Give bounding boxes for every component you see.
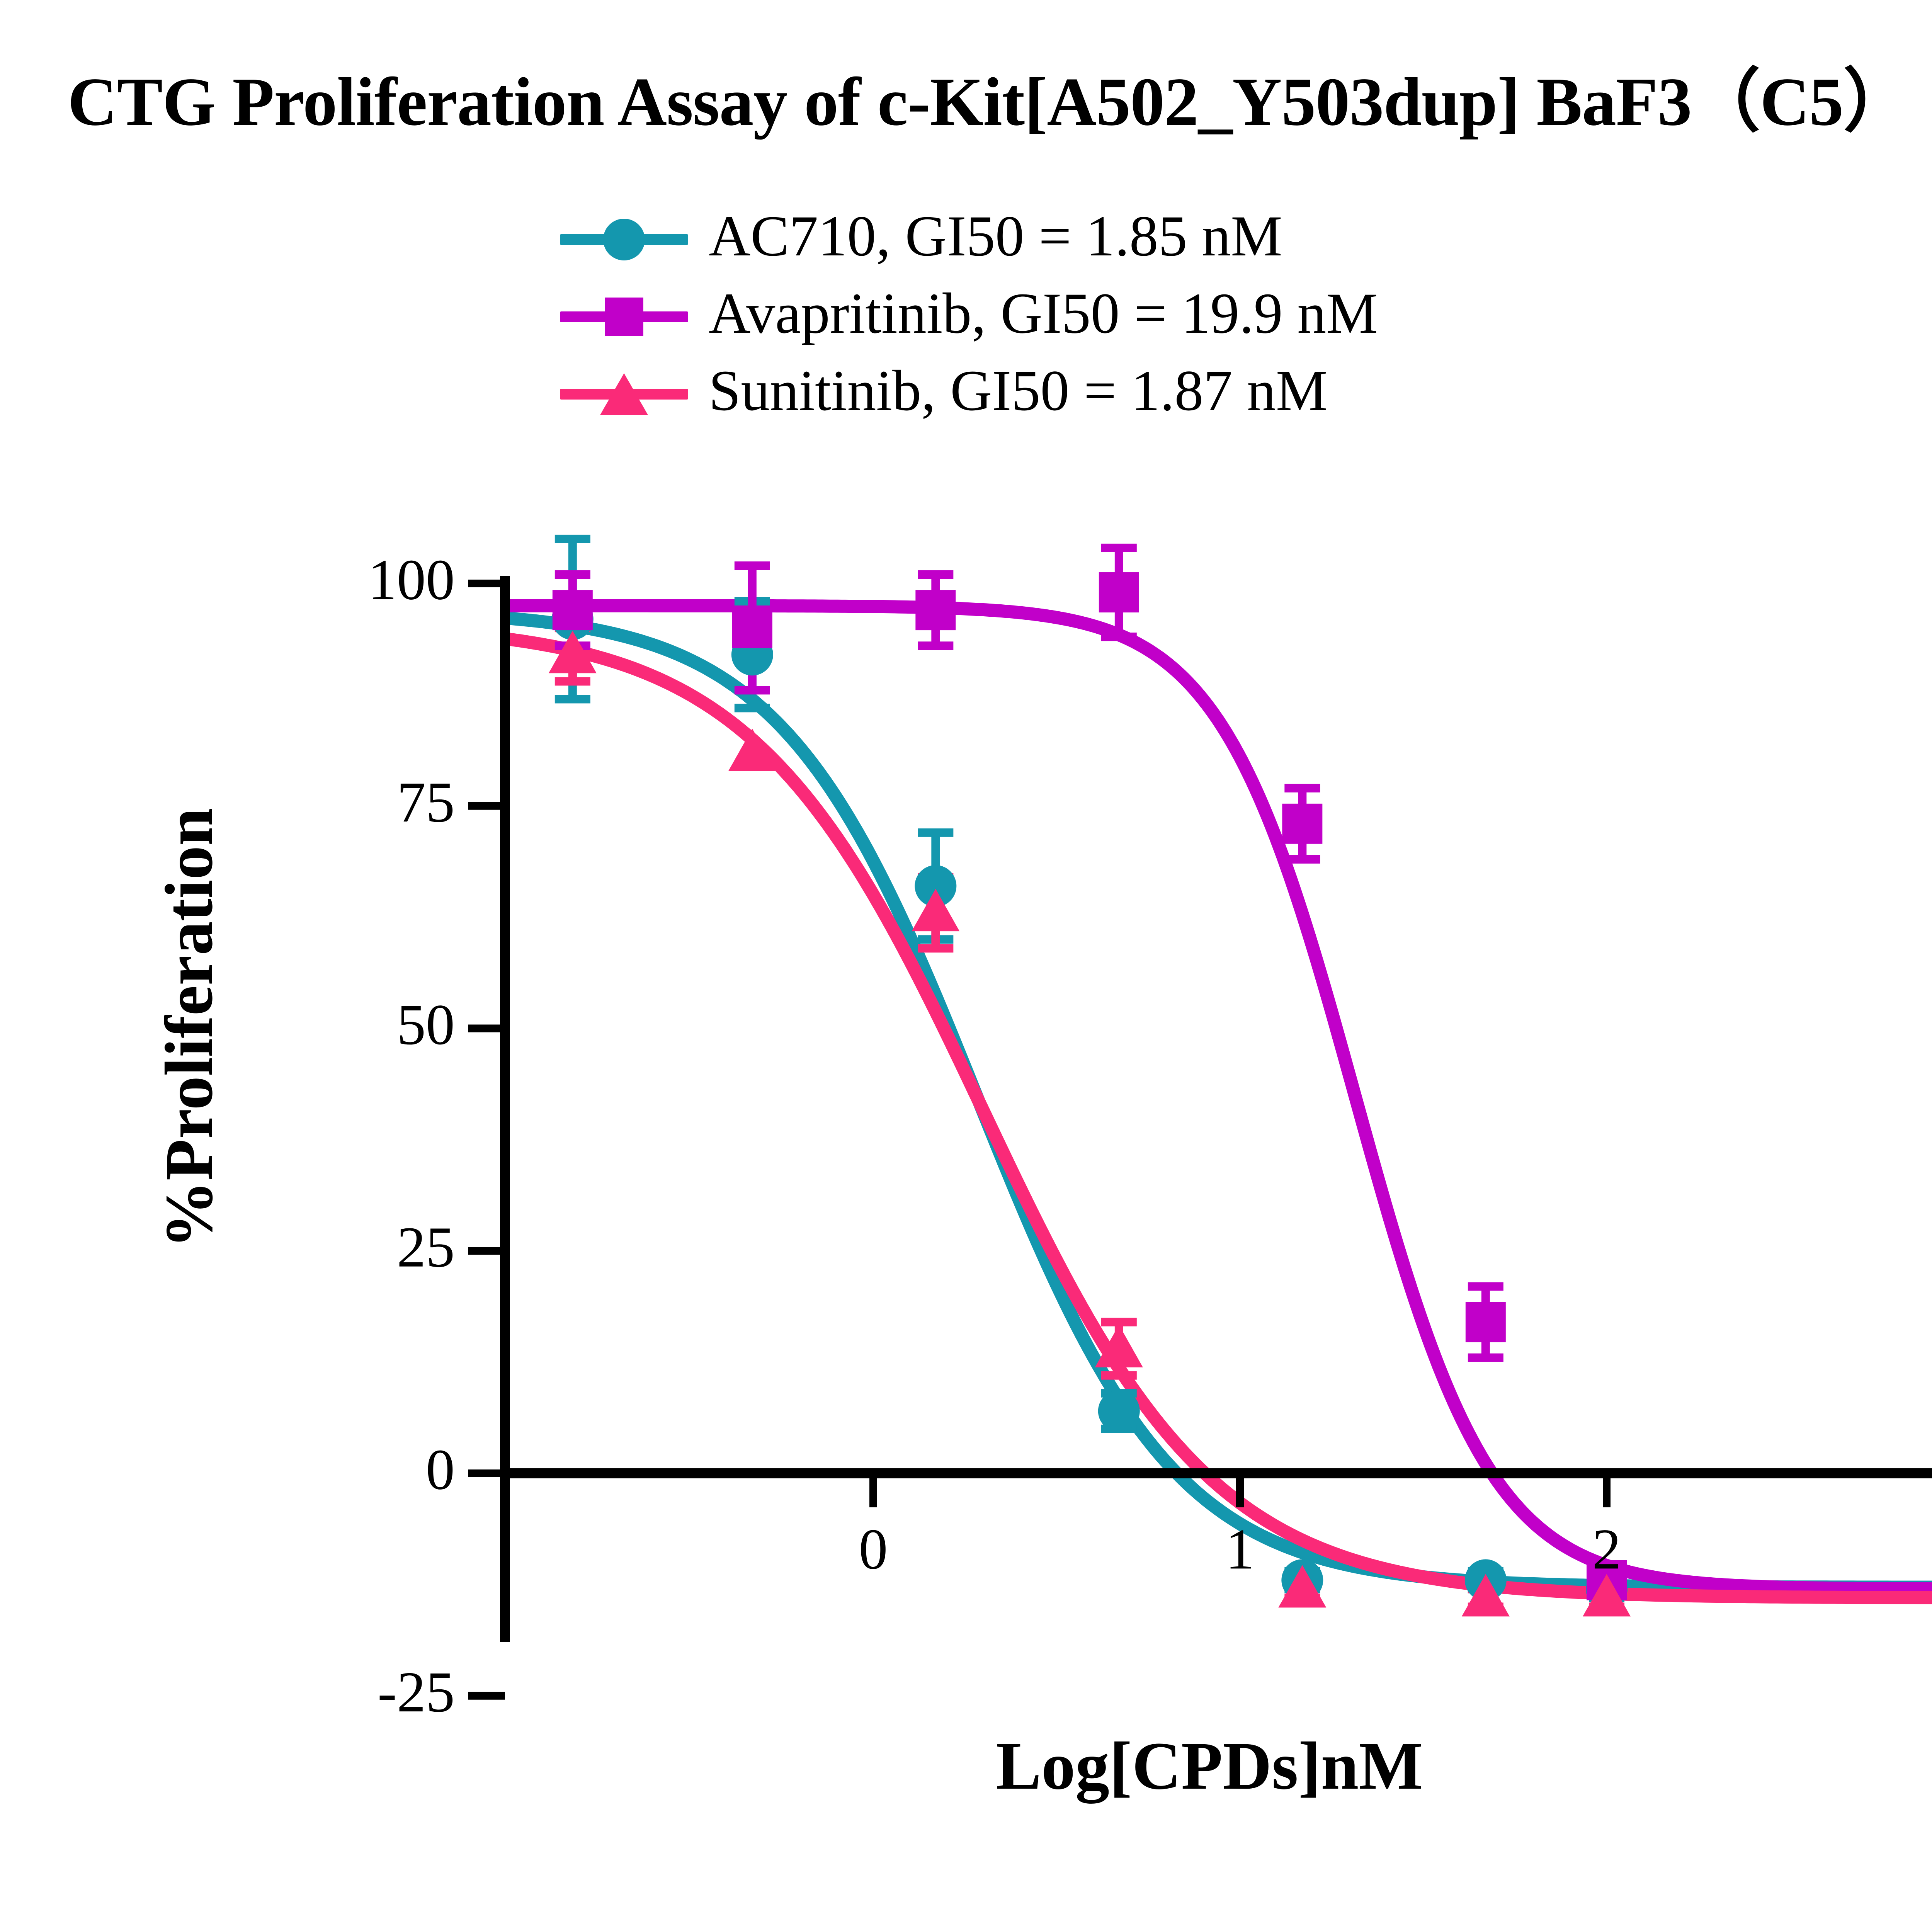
y-tick-label: -25	[378, 1660, 455, 1724]
data-point-avapritinib	[732, 608, 772, 648]
plot-canvas: 1007550250-250123	[0, 0, 1932, 1932]
curve-ac710	[507, 618, 1932, 1587]
y-tick-label: 100	[368, 548, 455, 612]
data-point-avapritinib	[915, 590, 956, 630]
figure-root: CTG Proliferation Assay of c-Kit[A502_Y5…	[0, 0, 1932, 1932]
plot-area: 1007550250-250123 %Proliferation Log[CPD…	[0, 0, 1932, 1932]
curve-sunitinib	[507, 639, 1932, 1598]
y-tick-label: 50	[397, 993, 455, 1057]
y-tick-label: 0	[426, 1437, 455, 1502]
x-tick-label: 1	[1226, 1517, 1255, 1581]
y-tick-label: 75	[397, 770, 455, 834]
y-axis-title: %Proliferation	[150, 661, 228, 1395]
data-point-avapritinib	[1282, 804, 1322, 844]
curve-avapritinib	[507, 606, 1932, 1589]
data-point-avapritinib	[1466, 1302, 1506, 1342]
data-point-ac710	[1098, 1390, 1140, 1432]
x-axis-title: Log[CPDs]nM	[842, 1727, 1577, 1805]
x-tick-label: 2	[1592, 1517, 1621, 1581]
y-tick-label: 25	[397, 1215, 455, 1279]
data-point-avapritinib	[1099, 572, 1139, 612]
x-tick-label: 0	[859, 1517, 888, 1581]
data-point-avapritinib	[553, 590, 593, 630]
